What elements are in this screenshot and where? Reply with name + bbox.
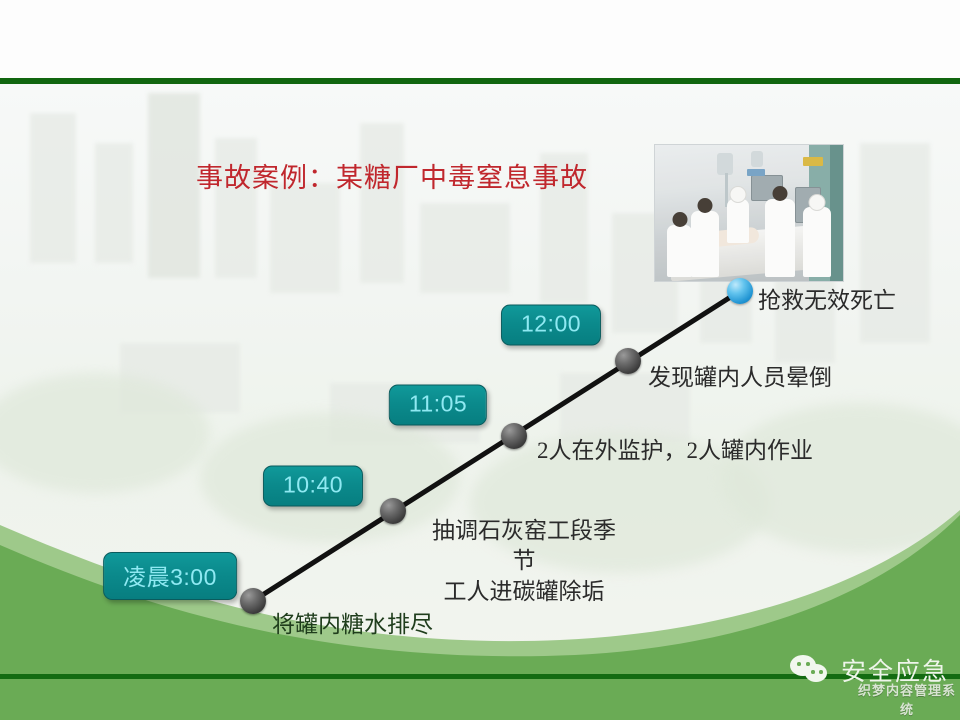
- wechat-icon-dot: [797, 662, 801, 666]
- timeline-caption-3: 2人在外监护，2人罐内作业: [537, 436, 813, 466]
- slide-canvas: 事故案例：某糖厂中毒窒息事故 凌晨3:00 10:40 11:05 12:00 …: [0, 0, 960, 720]
- timeline-caption-2: 抽调石灰窑工段季节 工人进碳罐除垢: [424, 516, 624, 607]
- watermark-line-1: 织梦内容管理系统: [852, 680, 960, 718]
- timeline-caption-1: 将罐内糖水排尽: [272, 610, 433, 640]
- timeline-caption-4: 发现罐内人员晕倒: [648, 363, 832, 393]
- timeline-time-chip-1[interactable]: 凌晨3:00: [103, 552, 237, 600]
- timeline-caption-2-line1: 抽调石灰窑工段季节: [424, 516, 624, 577]
- timeline-time-chip-2[interactable]: 10:40: [263, 466, 363, 507]
- wechat-icon: [790, 655, 832, 685]
- site-watermark: 织梦内容管理系统 DEDECMS.COM: [852, 680, 960, 720]
- wechat-icon-dot: [811, 670, 815, 674]
- timeline-node-1[interactable]: [240, 588, 266, 614]
- wechat-icon-bubble-small: [805, 664, 827, 682]
- timeline-node-2[interactable]: [380, 498, 406, 524]
- timeline-time-chip-4[interactable]: 12:00: [501, 305, 601, 346]
- timeline-node-3[interactable]: [501, 423, 527, 449]
- timeline-line: [0, 0, 960, 720]
- wechat-icon-dot: [819, 670, 823, 674]
- timeline-time-chip-3[interactable]: 11:05: [389, 385, 487, 426]
- wechat-icon-dot: [806, 662, 810, 666]
- timeline-caption-2-line2: 工人进碳罐除垢: [424, 577, 624, 607]
- timeline-caption-5: 抢救无效死亡: [758, 286, 896, 316]
- timeline-node-4[interactable]: [615, 348, 641, 374]
- timeline-node-5[interactable]: [727, 278, 753, 304]
